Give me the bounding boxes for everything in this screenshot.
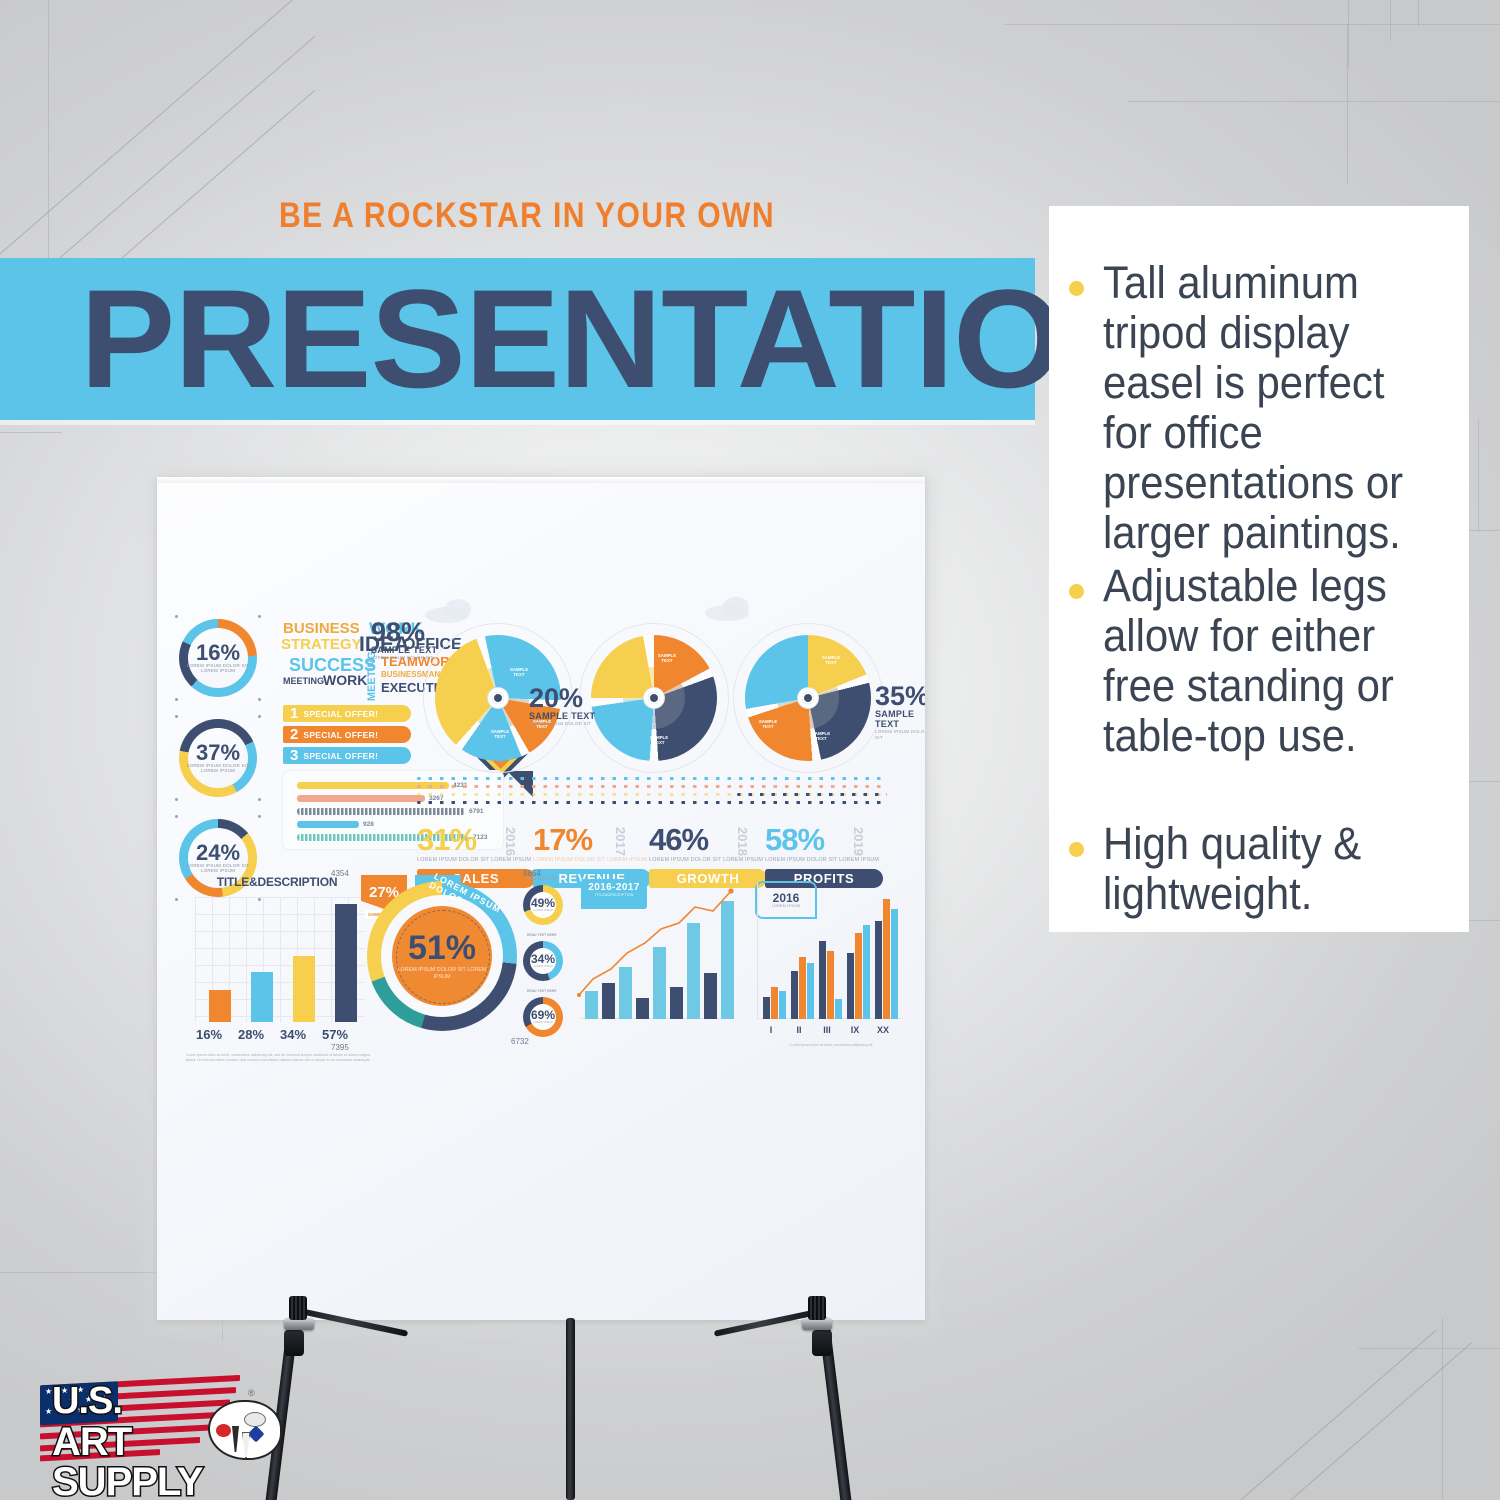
pie-desc: LOREM IPSUM DOLOR SIT (371, 655, 437, 661)
pie-value: 20% (529, 685, 595, 711)
pie-slice-label: SAMPLE TEXT (807, 731, 835, 741)
combo-trend-line (575, 877, 735, 1049)
grouped-bar (847, 953, 854, 1019)
donut-value: 16% (196, 643, 240, 663)
page-title: PRESENTATION (80, 264, 1059, 414)
radial-pie-chart: SAMPLE TEXT SAMPLE TEXT 20% SAMPLE TEXT … (579, 623, 729, 773)
pie-sample: SAMPLE TEXT (371, 645, 437, 655)
grouped-bar (819, 941, 826, 1019)
pie-hub-icon (644, 688, 664, 708)
feature-item: High quality & lightweight. (1069, 819, 1461, 919)
pie-desc: LOREM IPSUM DOLOR SIT (875, 729, 925, 740)
pie-label: 98% SAMPLE TEXT LOREM IPSUM DOLOR SIT (371, 619, 437, 661)
radial-pie-chart: SAMPLE TEXT SAMPLE TEXT SAMPLE TEXT 35% … (733, 623, 883, 773)
feature-item: Tall aluminum tripod display easel is pe… (1069, 258, 1461, 558)
kpi-year: 2017 (613, 827, 628, 856)
big-donut-chart: 51% LOREM IPSUM DOLOR SIT LOREM IPSUM LO… (367, 881, 517, 1031)
pie-slice-label: SAMPLE TEXT (645, 735, 673, 745)
pie-value: 35% (875, 683, 925, 709)
grouped-bar (791, 971, 798, 1019)
grouped-bar (763, 997, 770, 1019)
cloud-icon (723, 597, 749, 617)
easel-left-collar (284, 1330, 304, 1356)
grouped-footnote: * Lorem ipsum dolor sit amet, consectetu… (761, 1043, 901, 1047)
headline-block: BE A ROCKSTAR IN YOUR OWN PRESENTATION (0, 196, 1035, 236)
grouped-subtitle: LOREM IPSUM (772, 904, 800, 908)
chart-bar (209, 990, 231, 1022)
grouped-label: XX (870, 1025, 896, 1035)
pie-hub-icon (798, 688, 818, 708)
chart-footnote: Lorem ipsum dolor sit amet, consectetur … (183, 1053, 373, 1063)
wordcloud-word: BUSINESS (283, 621, 360, 636)
kpi-value: 31% (417, 822, 476, 857)
grouped-label: III (814, 1025, 840, 1035)
donut-kpi: 16% LOREM IPSUM DOLOR SIT LOREM IPSUM (179, 619, 257, 697)
combo-chart: 2016-2017 TITLE&DESCRIPTION (575, 877, 735, 1049)
bullet-icon (1069, 842, 1084, 857)
logo-wordmark: U.S. ART SUPPLY (52, 1382, 252, 1500)
donut-sub: LOREM IPSUM DOLOR SIT LOREM IPSUM (179, 663, 257, 674)
donut-sub: LOREM IPSUM DOLOR SIT LOREM IPSUM (179, 763, 257, 774)
big-donut-number: 7395 (331, 1043, 349, 1052)
mini-ring-center: 69% LOREM IPSUM (530, 1004, 556, 1030)
kpi-value: 58% (765, 822, 824, 857)
big-donut-number: 6732 (511, 1037, 529, 1046)
kpi-value: 17% (533, 822, 592, 857)
offer-number: 3 (290, 748, 298, 763)
grouped-chart-tag: 2016 LOREM IPSUM (755, 881, 817, 919)
pie-label: 35% SAMPLE TEXT LOREM IPSUM DOLOR SIT (875, 683, 925, 740)
kpi-year: 2016 (503, 827, 518, 856)
grouped-label: II (786, 1025, 812, 1035)
chart-label: 16% (187, 1027, 231, 1042)
donut-center: 16% LOREM IPSUM DOLOR SIT LOREM IPSUM (179, 619, 257, 697)
mini-ring-sub: LOREM IPSUM (533, 1021, 553, 1024)
pie-sample: SAMPLE TEXT (529, 711, 595, 721)
feature-text: Adjustable legs allow for either free st… (1103, 561, 1436, 761)
cloud-icon (445, 599, 471, 619)
wordcloud-word: WORK (323, 673, 367, 687)
pie-label: 20% SAMPLE TEXT LOREM IPSUM DOLOR SIT (529, 685, 595, 727)
grouped-bar (779, 991, 786, 1019)
easel-rear-leg (566, 1318, 575, 1500)
big-donut-number: 4354 (331, 869, 349, 878)
donut-kpi: 37% LOREM IPSUM DOLOR SIT LOREM IPSUM (179, 719, 257, 797)
grouped-bar (827, 951, 834, 1019)
donut-center: 37% LOREM IPSUM DOLOR SIT LOREM IPSUM (179, 719, 257, 797)
grouped-bar (891, 909, 898, 1019)
grouped-bar-chart: 2016 LOREM IPSUM I II III (747, 877, 907, 1049)
poster-top-edge (157, 477, 925, 483)
big-donut-dashed-ring (396, 910, 490, 1004)
chart-gridlines (195, 897, 365, 1022)
product-marketing-image: BE A ROCKSTAR IN YOUR OWN PRESENTATION T… (0, 0, 1500, 1500)
pie-desc: LOREM IPSUM DOLOR SIT (529, 721, 595, 727)
mini-ring-sub: LOREM IPSUM (533, 965, 553, 968)
mini-ring-sub: LOREM IPSUM (533, 909, 553, 912)
mini-ring-badge: 49% LOREM IPSUM (523, 885, 563, 925)
grouped-label: I (758, 1025, 784, 1035)
kpi-desc: LOREM IPSUM DOLOR SIT LOREM IPSUM (533, 857, 651, 864)
offer-number: 1 (290, 706, 298, 721)
brand-logo: ★★ ★★ ★★ ★★ ★★ ★★ ® U.S. ART SUPPLY (32, 1366, 260, 1476)
donut-value: 37% (196, 743, 240, 763)
donut-kpi-column: 16% LOREM IPSUM DOLOR SIT LOREM IPSUM 37… (179, 619, 271, 919)
pie-slice-label: SAMPLE TEXT (487, 729, 513, 739)
pie-slice-label: SAMPLE TEXT (653, 653, 681, 663)
kpi-year: 2018 (735, 827, 750, 856)
kpi-desc: LOREM IPSUM DOLOR SIT LOREM IPSUM (765, 857, 883, 864)
grouped-bar (771, 987, 778, 1019)
logo-line-1: U.S. (52, 1382, 252, 1420)
mini-ring-caption: READ TEXT HERE (527, 877, 557, 881)
kpi-desc: LOREM IPSUM DOLOR SIT LOREM IPSUM (649, 857, 767, 864)
chart-label: 28% (229, 1027, 273, 1042)
grouped-label: IX (842, 1025, 868, 1035)
mini-ring-badge: 34% LOREM IPSUM (523, 941, 563, 981)
wordcloud-word: STRATEGY (281, 637, 362, 652)
dot-matrix (417, 777, 887, 813)
chart-bar (293, 956, 315, 1022)
offer-label: SPECIAL OFFER! (303, 730, 378, 740)
special-offer-banner[interactable]: 2 SPECIAL OFFER! (283, 726, 411, 743)
mini-ring-badge: 69% LOREM IPSUM (523, 997, 563, 1037)
grouped-bar (863, 925, 870, 1019)
mini-ring-center: 34% LOREM IPSUM (530, 948, 556, 974)
special-offer-banner[interactable]: 3 SPECIAL OFFER! (283, 747, 411, 764)
feature-text: High quality & lightweight. (1103, 819, 1436, 919)
wordcloud-word: MEETING (283, 677, 324, 686)
grouped-bar (807, 963, 814, 1019)
chart-label: 57% (313, 1027, 357, 1042)
presentation-poster: 16% LOREM IPSUM DOLOR SIT LOREM IPSUM 37… (157, 477, 925, 1320)
offer-label: SPECIAL OFFER! (303, 709, 378, 719)
grouped-bar (835, 999, 842, 1019)
grouped-bar (855, 933, 862, 1019)
mini-ring-caption: READ TEXT HERE (527, 933, 557, 937)
chart-label: 34% (271, 1027, 315, 1042)
bullet-icon (1069, 281, 1084, 296)
easel-right-collar (812, 1330, 832, 1356)
pie-slice-label: SAMPLE TEXT (505, 667, 533, 677)
feature-item: Adjustable legs allow for either free st… (1069, 561, 1461, 761)
grouped-bar (799, 957, 806, 1019)
kpi-year: 2019 (851, 827, 866, 856)
mini-ring-center: 49% LOREM IPSUM (530, 892, 556, 918)
offer-label: SPECIAL OFFER! (303, 751, 378, 761)
special-offer-banner[interactable]: 1 SPECIAL OFFER! (283, 705, 411, 722)
pie-slice-label: SAMPLE TEXT (817, 655, 845, 665)
kpi-desc: LOREM IPSUM DOLOR SIT LOREM IPSUM (417, 857, 535, 864)
mini-ring-caption: READ TEXT HERE (527, 989, 557, 993)
bar-list-bar (297, 821, 359, 828)
donut-sub: LOREM IPSUM DOLOR SIT LOREM IPSUM (179, 863, 257, 874)
chart-bar (335, 904, 357, 1022)
logo-line-2: ART SUPPLY (52, 1422, 252, 1500)
headline-kicker: BE A ROCKSTAR IN YOUR OWN (279, 196, 929, 236)
grouped-bar (875, 921, 882, 1019)
kpi-value: 46% (649, 822, 708, 857)
pie-hub-icon (488, 688, 508, 708)
grouped-title: 2016 (773, 892, 800, 904)
features-panel: Tall aluminum tripod display easel is pe… (1049, 206, 1469, 932)
pie-value: 98% (371, 619, 437, 645)
pie-sample: SAMPLE TEXT (875, 709, 925, 729)
pie-slice-label: SAMPLE TEXT (755, 719, 781, 729)
bar-list-value: 928 (363, 821, 374, 828)
easel-right-leg (818, 1317, 852, 1500)
grouped-bar (883, 899, 890, 1019)
offer-number: 2 (290, 727, 298, 742)
chart-bar (251, 972, 273, 1022)
feature-text: Tall aluminum tripod display easel is pe… (1103, 258, 1436, 558)
donut-value: 24% (196, 843, 240, 863)
bullet-icon (1069, 584, 1084, 599)
infographic: 16% LOREM IPSUM DOLOR SIT LOREM IPSUM 37… (171, 619, 911, 1099)
bar-list-bar (297, 795, 425, 802)
